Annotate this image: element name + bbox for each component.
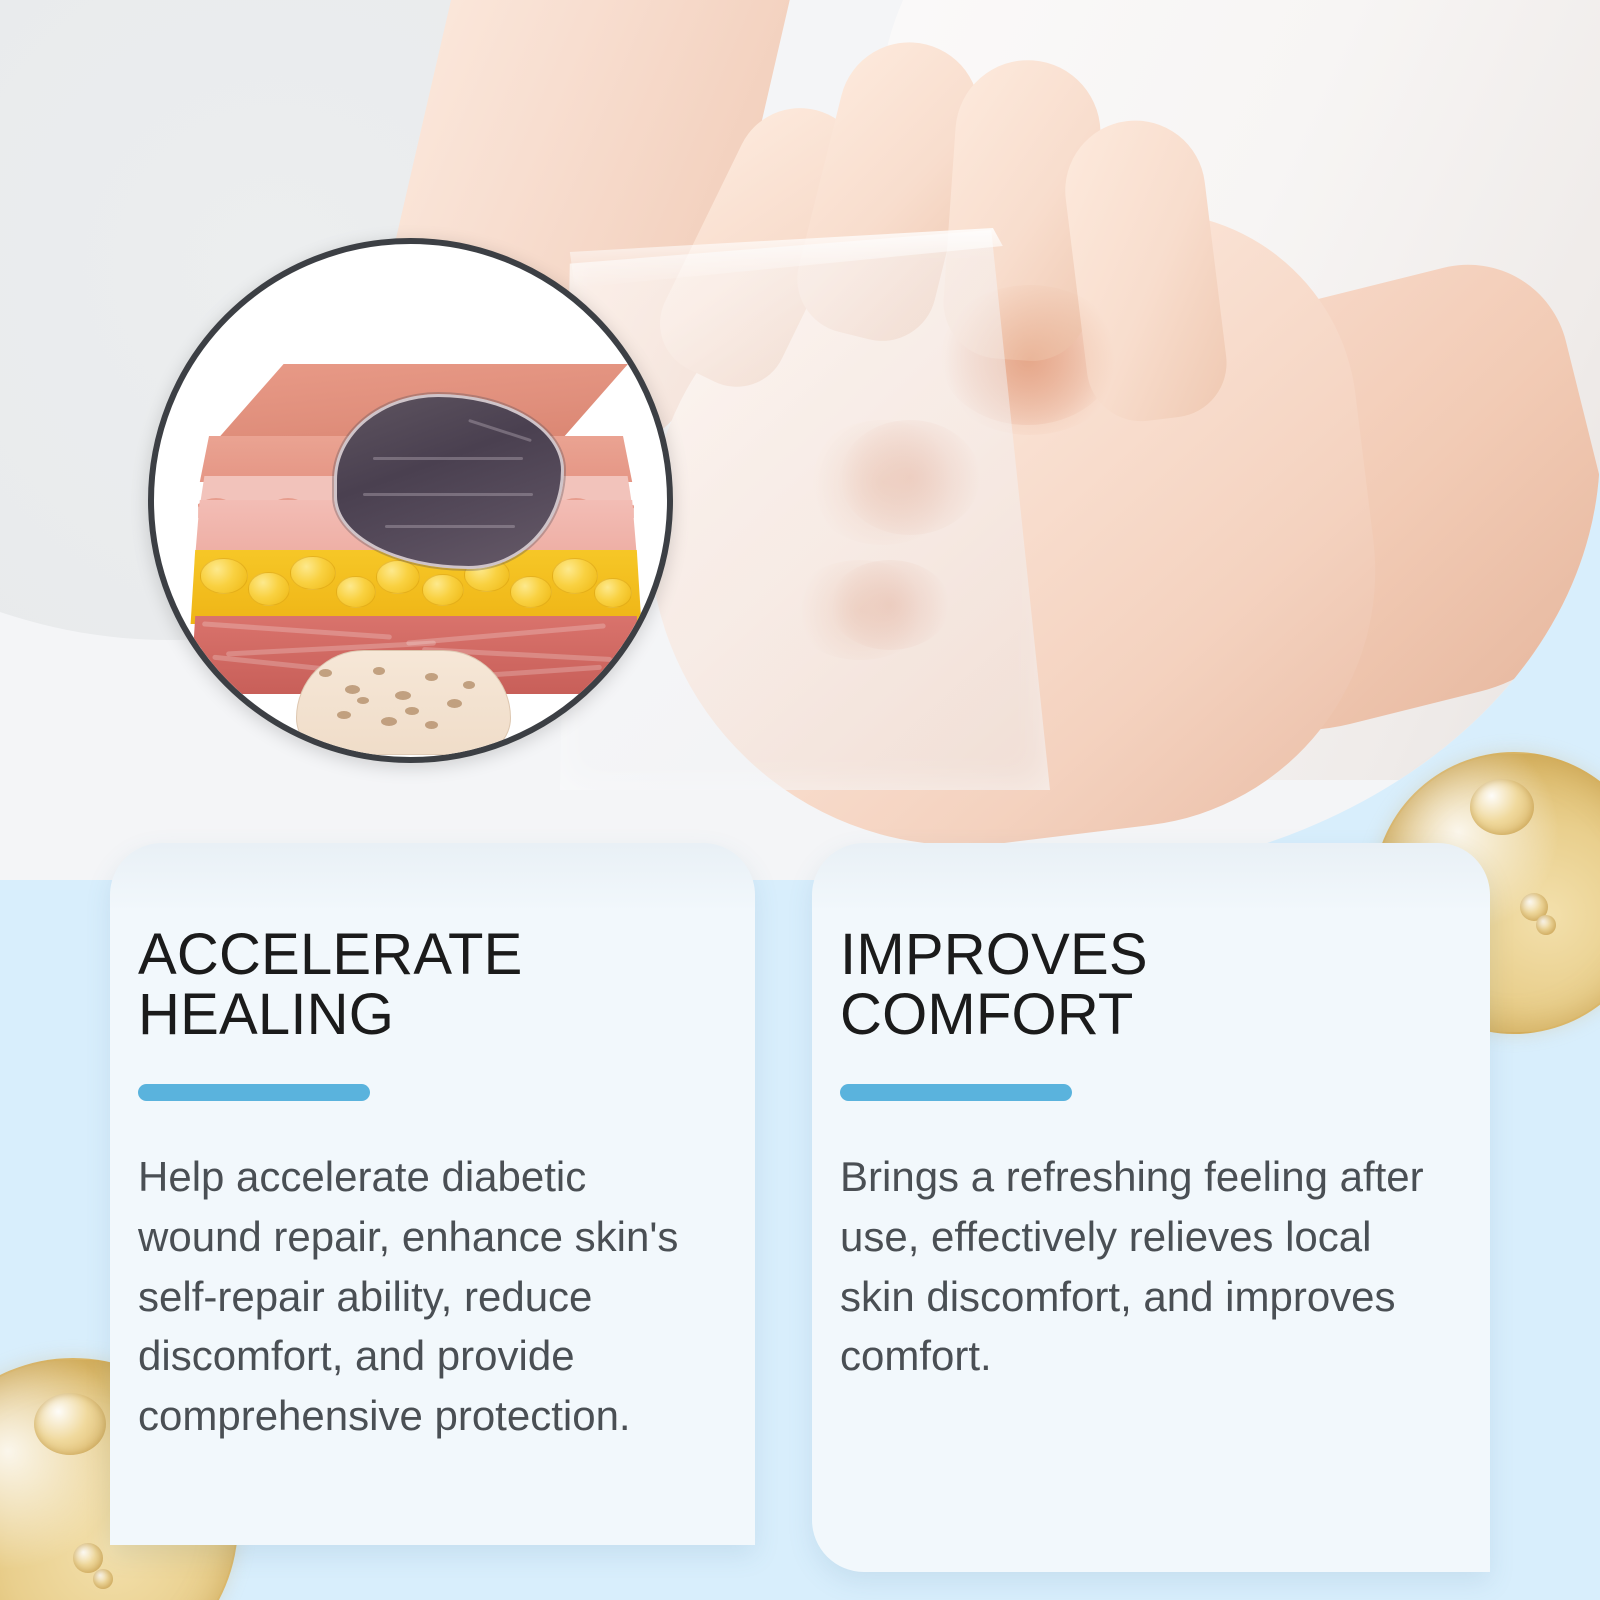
skin-layer-block xyxy=(186,364,646,694)
card-body-text: Help accelerate diabetic wound repair, e… xyxy=(138,1147,709,1445)
feature-cards: ACCELERATE HEALING Help accelerate diabe… xyxy=(0,843,1600,1600)
necrotic-wound xyxy=(334,394,564,569)
product-feature-poster: ACCELERATE HEALING Help accelerate diabe… xyxy=(0,0,1600,1600)
card-accent-bar xyxy=(138,1084,370,1101)
card-body-text: Brings a refreshing feeling after use, e… xyxy=(840,1147,1444,1386)
card-title: ACCELERATE HEALING xyxy=(138,925,709,1044)
card-accent-bar xyxy=(840,1084,1072,1101)
feature-card-improves-comfort: IMPROVES COMFORT Brings a refreshing fee… xyxy=(812,843,1490,1572)
card-title: IMPROVES COMFORT xyxy=(840,925,1444,1044)
bone-layer xyxy=(296,650,511,755)
skin-cross-section-inset xyxy=(148,238,673,763)
feature-card-accelerate-healing: ACCELERATE HEALING Help accelerate diabe… xyxy=(110,843,755,1545)
